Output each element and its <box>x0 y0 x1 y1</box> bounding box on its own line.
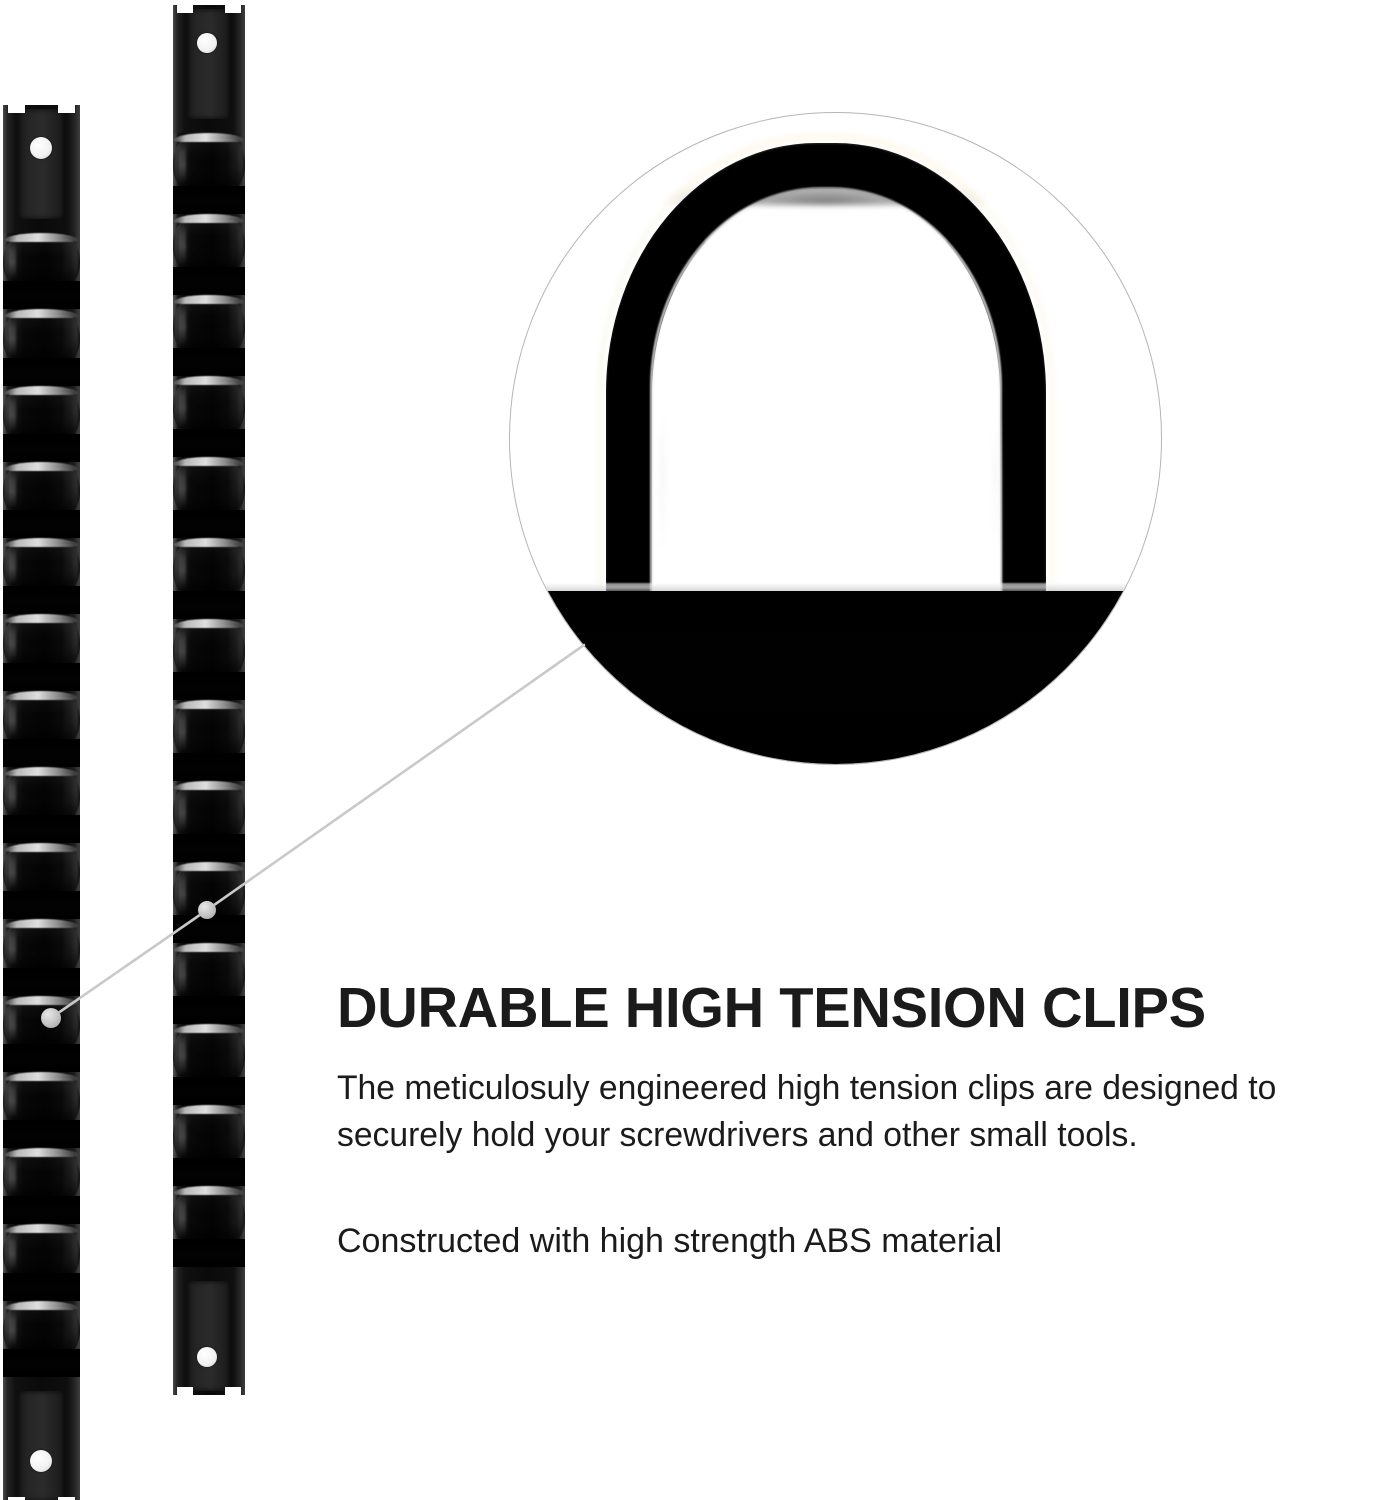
clip-shadow-gap <box>173 186 245 214</box>
rail-end-channel <box>18 1391 64 1500</box>
clip-shadow-gap <box>173 1158 245 1186</box>
clip-specular-sheen <box>179 1115 186 1156</box>
page-title: DURABLE HIGH TENSION CLIPS <box>337 978 1361 1038</box>
clip-top-highlight <box>174 295 243 304</box>
clip-segment <box>173 376 245 457</box>
clip-specular-sheen <box>179 224 186 265</box>
clip-shadow-gap <box>3 1196 80 1224</box>
product-feature-image: DURABLE HIGH TENSION CLIPS The meticulos… <box>0 0 1392 1500</box>
clip-segment <box>3 386 80 462</box>
clip-specular-sheen <box>9 319 16 355</box>
clip-shadow-gap <box>173 348 245 376</box>
clip-top-highlight <box>5 1148 79 1157</box>
mount-hole-icon <box>30 137 52 159</box>
clip-shadow-gap <box>3 663 80 691</box>
rail-tip-notch <box>8 105 25 113</box>
feature-text-block: DURABLE HIGH TENSION CLIPS The meticulos… <box>337 978 1377 1263</box>
clip-shadow-gap <box>173 915 245 943</box>
clip-segment <box>173 943 245 1024</box>
clip-shadow-gap <box>3 1120 80 1148</box>
clip-segment <box>3 691 80 767</box>
clip-top-highlight <box>174 1186 243 1195</box>
clip-segment <box>173 619 245 700</box>
clip-specular-sheen <box>9 1158 16 1194</box>
clip-top-highlight <box>5 767 79 776</box>
clip-shadow-gap <box>3 739 80 767</box>
clip-shadow-gap <box>173 591 245 619</box>
clip-top-highlight <box>174 862 243 871</box>
clip-segment <box>3 1072 80 1148</box>
clip-top-highlight <box>5 1301 79 1310</box>
clip-segment <box>3 996 80 1072</box>
mount-hole-icon <box>197 33 217 53</box>
clip-shadow-gap <box>173 267 245 295</box>
mount-hole-icon <box>197 1347 217 1367</box>
clip-top-highlight <box>5 691 79 700</box>
rail-base-surface <box>509 591 1162 765</box>
clip-specular-sheen <box>179 953 186 994</box>
clip-top-highlight <box>174 133 243 142</box>
clip-shadow-gap <box>3 510 80 538</box>
clip-shadow-gap <box>3 586 80 614</box>
clip-segment <box>3 767 80 843</box>
clip-top-highlight <box>5 386 79 395</box>
clip-top-highlight <box>174 214 243 223</box>
clip-segment <box>3 919 80 995</box>
rail-end-channel <box>18 109 64 219</box>
clip-segment <box>173 133 245 214</box>
clip-shadow-gap <box>173 753 245 781</box>
rail-tip-notch <box>225 1387 241 1395</box>
clip-segment <box>173 1024 245 1105</box>
clip-arch-inner-highlight <box>650 187 1002 617</box>
clip-specular-sheen <box>179 305 186 346</box>
clip-shadow-gap <box>173 834 245 862</box>
tool-rail-left <box>3 105 80 1500</box>
clip-top-highlight <box>5 462 79 471</box>
clip-segment <box>173 538 245 619</box>
clip-shadow-gap <box>3 281 80 309</box>
clip-specular-sheen <box>9 929 16 965</box>
clip-specular-sheen <box>9 1006 16 1042</box>
clip-top-highlight <box>174 619 243 628</box>
clip-segment <box>3 1148 80 1224</box>
clip-top-highlight <box>174 538 243 547</box>
clip-shadow-gap <box>3 891 80 919</box>
clip-specular-sheen <box>9 1082 16 1118</box>
clip-top-highlight <box>174 1105 243 1114</box>
mount-hole-icon <box>30 1450 52 1472</box>
clip-shadow-gap <box>173 996 245 1024</box>
clip-top-highlight <box>174 1024 243 1033</box>
clip-segment <box>3 462 80 538</box>
clip-shadow-gap <box>3 434 80 462</box>
clip-specular-sheen <box>179 629 186 670</box>
clip-shadow-gap <box>173 672 245 700</box>
clip-top-highlight <box>5 919 79 928</box>
rail-end-channel <box>187 9 230 119</box>
clip-specular-sheen <box>9 777 16 813</box>
clip-specular-sheen <box>179 1196 186 1237</box>
clip-top-highlight <box>5 538 79 547</box>
clip-specular-sheen <box>179 791 186 832</box>
clip-top-highlight <box>5 614 79 623</box>
clip-shadow-gap <box>173 510 245 538</box>
clip-top-highlight <box>5 996 79 1005</box>
clip-leg-glint-right <box>992 413 1001 605</box>
rail-end-channel <box>187 1281 230 1391</box>
clip-specular-sheen <box>179 710 186 751</box>
material-tagline: Constructed with high strength ABS mater… <box>337 1219 1377 1263</box>
clip-segment <box>3 1301 80 1377</box>
clip-specular-sheen <box>9 1311 16 1347</box>
feature-description: The meticulosuly engineered high tension… <box>337 1065 1367 1159</box>
clip-segment <box>173 700 245 781</box>
clip-specular-sheen <box>9 548 16 584</box>
clip-top-highlight <box>174 943 243 952</box>
callout-dot-icon <box>198 901 216 919</box>
clip-segment <box>173 457 245 538</box>
clip-arch-crown-shading <box>660 171 990 205</box>
clip-top-highlight <box>5 1072 79 1081</box>
rail-tip-notch <box>177 5 193 13</box>
clip-segment <box>3 233 80 309</box>
rail-tip-notch <box>58 105 75 113</box>
clip-shadow-gap <box>3 968 80 996</box>
clip-shadow-gap <box>173 429 245 457</box>
clip-top-highlight <box>174 781 243 790</box>
clip-specular-sheen <box>9 701 16 737</box>
clip-top-highlight <box>5 309 79 318</box>
clip-shadow-gap <box>3 1273 80 1301</box>
clip-leg-glint-left <box>658 413 667 605</box>
clip-specular-sheen <box>179 386 186 427</box>
rail-tip-notch <box>225 5 241 13</box>
clip-top-highlight <box>174 376 243 385</box>
clip-segment <box>173 1186 245 1267</box>
clip-segment <box>173 781 245 862</box>
clip-segment <box>173 1105 245 1186</box>
rail-tip-notch <box>177 1387 193 1395</box>
clip-specular-sheen <box>179 548 186 589</box>
clip-shadow-gap <box>3 1044 80 1072</box>
tool-rail-right <box>173 5 245 1395</box>
clip-shadow-gap <box>3 358 80 386</box>
clip-specular-sheen <box>9 472 16 508</box>
clip-segment <box>173 295 245 376</box>
clip-segment <box>3 614 80 690</box>
clip-segment <box>3 1224 80 1300</box>
clip-specular-sheen <box>9 396 16 432</box>
magnifier-circle-icon <box>509 112 1162 765</box>
clip-shadow-gap <box>173 1239 245 1267</box>
magnifier-content <box>510 113 1161 764</box>
clip-segment <box>173 214 245 295</box>
clip-segment <box>3 309 80 385</box>
callout-dot-icon <box>41 1008 61 1028</box>
clip-segment <box>3 843 80 919</box>
clip-specular-sheen <box>9 243 16 279</box>
clip-specular-sheen <box>179 143 186 184</box>
clip-top-highlight <box>5 1224 79 1233</box>
clip-top-highlight <box>5 843 79 852</box>
clip-specular-sheen <box>179 467 186 508</box>
clip-specular-sheen <box>179 1034 186 1075</box>
clip-specular-sheen <box>179 872 186 913</box>
clip-specular-sheen <box>9 853 16 889</box>
clip-segment <box>3 538 80 614</box>
clip-specular-sheen <box>9 624 16 660</box>
clip-shadow-gap <box>3 1349 80 1377</box>
clip-specular-sheen <box>9 1234 16 1270</box>
clip-shadow-gap <box>3 815 80 843</box>
clip-top-highlight <box>174 457 243 466</box>
clip-shadow-gap <box>173 1077 245 1105</box>
clip-top-highlight <box>5 233 79 242</box>
clip-top-highlight <box>174 700 243 709</box>
